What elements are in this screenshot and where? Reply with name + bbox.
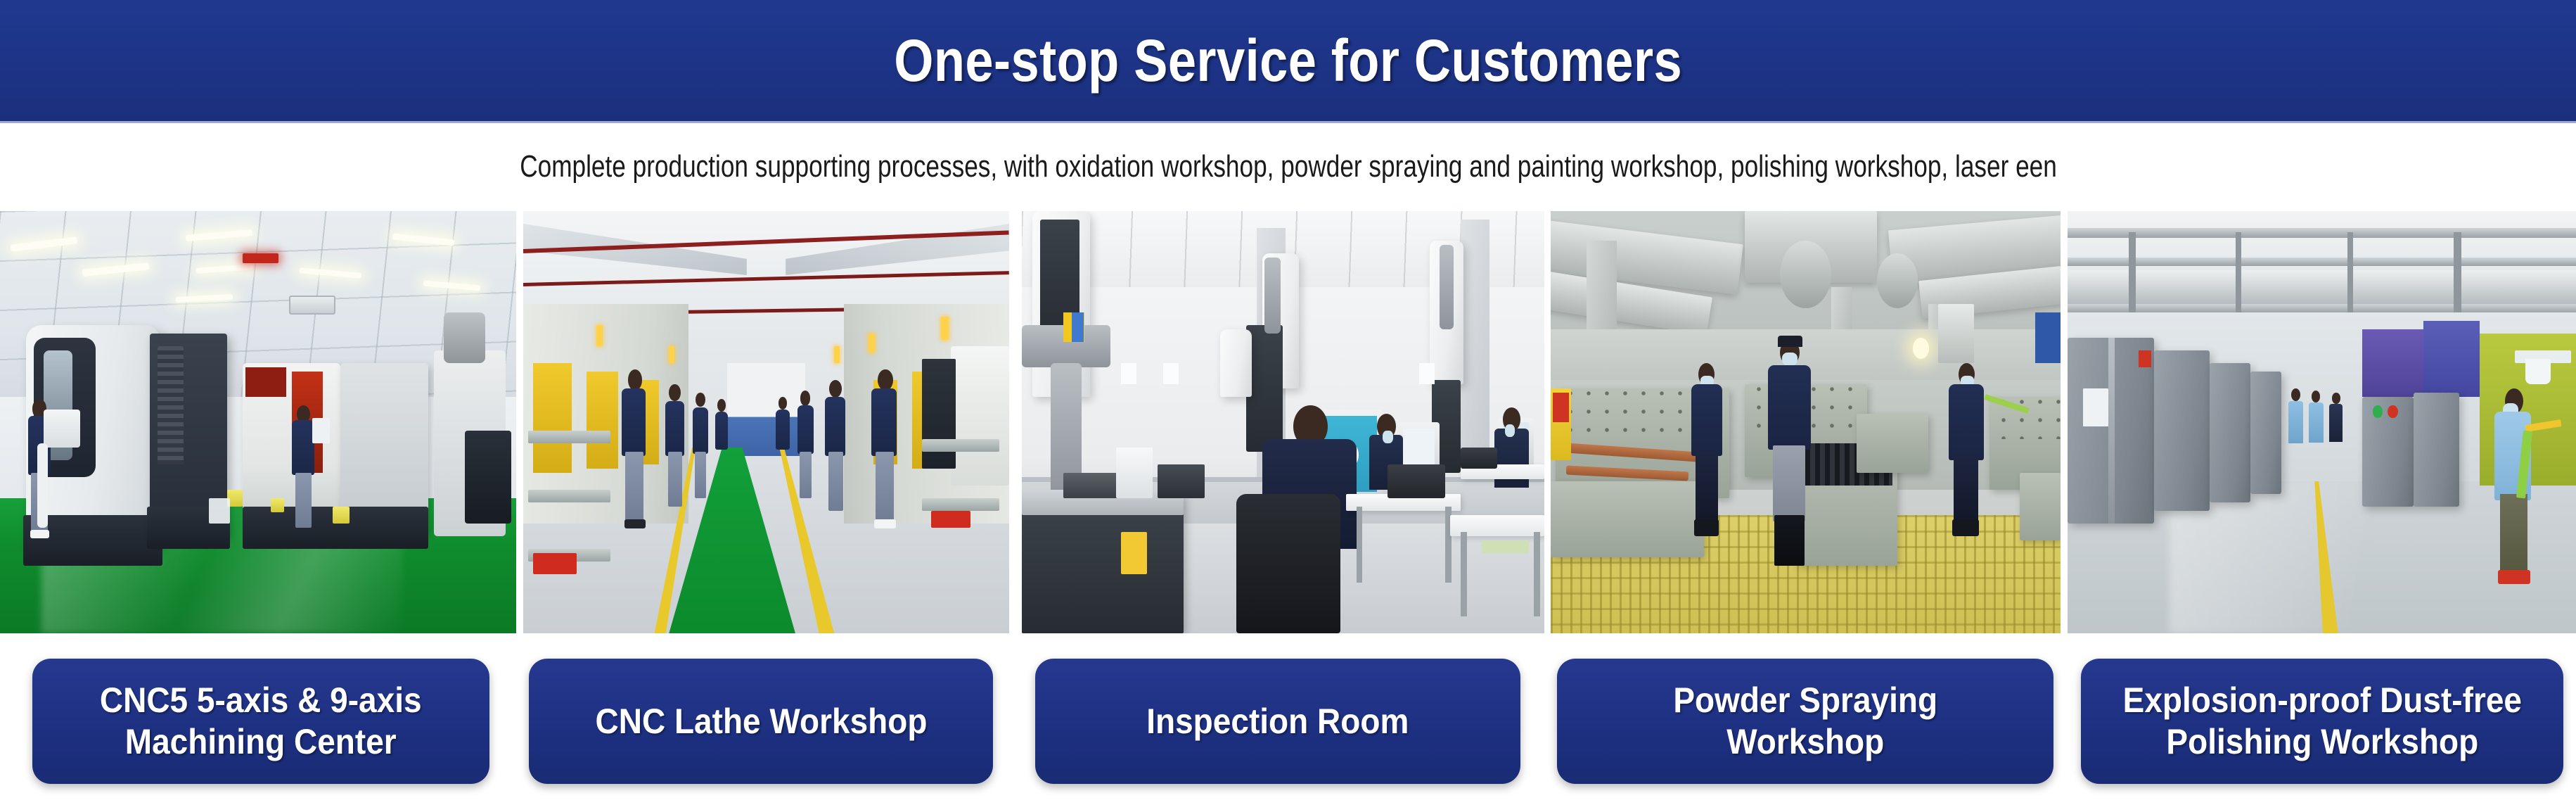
label-button-inspection-room[interactable]: Inspection Room [1035,659,1520,784]
label-button-powder-spraying-workshop[interactable]: Powder Spraying Workshop [1557,659,2053,784]
label-button-text: CNC5 5-axis & 9-axis Machining Center [100,680,422,763]
gallery-panel-cnc-5-axis-machining-center[interactable] [0,211,516,633]
gallery-panel-explosion-proof-dust-free-polishing-workshop[interactable] [2068,211,2576,633]
gallery-panel-cnc-lathe-workshop[interactable] [523,211,1009,633]
gallery-strip [0,211,2576,633]
gallery-panel-inspection-room[interactable] [1022,211,1544,633]
label-button-explosion-proof-dust-free-polishing-workshop[interactable]: Explosion-proof Dust-free Polishing Work… [2081,659,2563,784]
gallery-panel-powder-spraying-workshop[interactable] [1551,211,2061,633]
page-title: One-stop Service for Customers [894,31,1682,90]
label-button-text: Inspection Room [1146,701,1409,742]
label-button-cnc-lathe-workshop[interactable]: CNC Lathe Workshop [529,659,993,784]
one-stop-service-banner: One-stop Service for Customers Complete … [0,0,2576,805]
label-button-row: CNC5 5-axis & 9-axis Machining Center CN… [0,633,2576,805]
label-button-text: Powder Spraying Workshop [1673,680,1937,763]
label-button-text: Explosion-proof Dust-free Polishing Work… [2122,680,2521,763]
subtitle-text: Complete production supporting processes… [520,150,2057,184]
label-button-text: CNC Lathe Workshop [595,701,927,742]
subtitle-band: Complete production supporting processes… [0,123,2576,211]
header-bar: One-stop Service for Customers [0,0,2576,121]
label-button-cnc-5-axis-machining-center[interactable]: CNC5 5-axis & 9-axis Machining Center [32,659,489,784]
